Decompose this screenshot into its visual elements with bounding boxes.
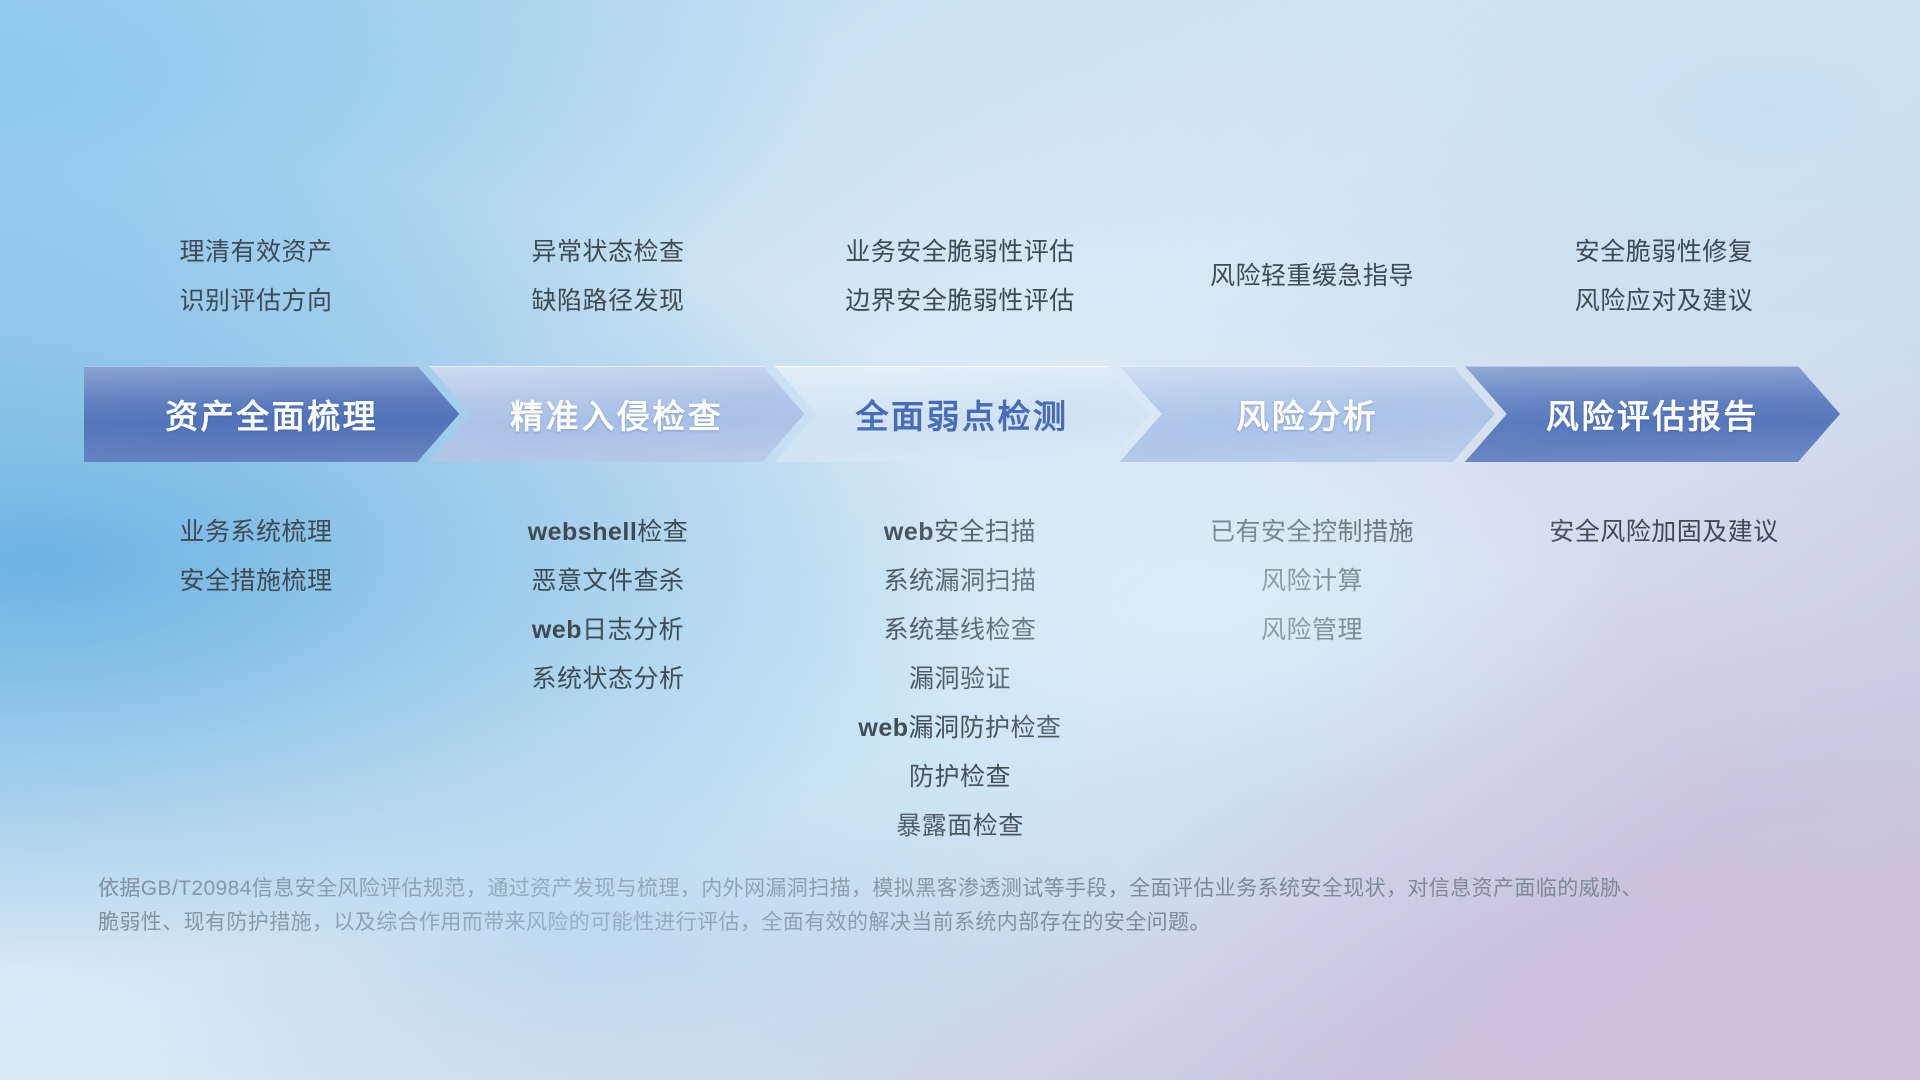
bottom-note-text: 安全风险加固及建议 — [1549, 518, 1779, 546]
bottom-note-text: 漏洞防护检查 — [909, 714, 1062, 742]
bottom-note-text: 安全措施梳理 — [179, 567, 332, 595]
bottom-note-text: 系统状态分析 — [531, 665, 684, 693]
bottom-note-text: 日志分析 — [582, 616, 684, 644]
bottom-note-text: 业务系统梳理 — [179, 518, 332, 546]
top-note-item: 识别评估方向 — [86, 277, 426, 326]
bottom-note-item: 业务系统梳理 — [86, 508, 426, 557]
process-step-3[interactable]: 全面弱点检测 — [774, 366, 1149, 462]
bottom-note-item: 恶意文件查杀 — [438, 557, 778, 606]
slide-canvas: 理清有效资产识别评估方向异常状态检查缺陷路径发现业务安全脆弱性评估边界安全脆弱性… — [0, 0, 1920, 1080]
top-note-item: 安全脆弱性修复 — [1494, 228, 1834, 277]
bottom-note-column-3: web安全扫描系统漏洞扫描系统基线检查漏洞验证web漏洞防护检查防护检查暴露面检… — [784, 508, 1136, 851]
top-note-column-5: 安全脆弱性修复风险应对及建议 — [1488, 228, 1840, 326]
bottom-note-text: 系统漏洞扫描 — [883, 567, 1036, 595]
bottom-note-text: 漏洞验证 — [909, 665, 1011, 693]
top-notes-row: 理清有效资产识别评估方向异常状态检查缺陷路径发现业务安全脆弱性评估边界安全脆弱性… — [80, 228, 1840, 326]
bottom-note-item: 风险管理 — [1142, 606, 1482, 655]
top-note-item: 风险轻重缓急指导 — [1142, 252, 1482, 301]
bottom-note-text: 防护检查 — [909, 763, 1011, 791]
process-step-2[interactable]: 精准入侵检查 — [429, 366, 804, 462]
bottom-note-term: web — [532, 616, 582, 644]
bottom-note-item: 安全风险加固及建议 — [1494, 508, 1834, 557]
bottom-note-text: 安全扫描 — [934, 518, 1036, 546]
process-step-label: 资产全面梳理 — [165, 390, 378, 438]
bottom-note-item: 系统漏洞扫描 — [790, 557, 1130, 606]
bottom-note-text: 已有安全控制措施 — [1210, 518, 1414, 546]
bottom-note-item: web安全扫描 — [790, 508, 1130, 557]
bottom-note-item: 漏洞验证 — [790, 655, 1130, 704]
bottom-note-text: 风险计算 — [1261, 567, 1363, 595]
top-note-item: 业务安全脆弱性评估 — [790, 228, 1130, 277]
top-note-item: 异常状态检查 — [438, 228, 778, 277]
process-step-label: 精准入侵检查 — [510, 390, 723, 438]
bottom-note-text: 系统基线检查 — [883, 616, 1036, 644]
process-step-5[interactable]: 风险评估报告 — [1465, 366, 1840, 462]
bottom-note-item: 已有安全控制措施 — [1142, 508, 1482, 557]
top-note-column-3: 业务安全脆弱性评估边界安全脆弱性评估 — [784, 228, 1136, 326]
top-note-column-2: 异常状态检查缺陷路径发现 — [432, 228, 784, 326]
bottom-notes-row: 业务系统梳理安全措施梳理webshell检查恶意文件查杀web日志分析系统状态分… — [80, 508, 1840, 851]
top-note-item: 边界安全脆弱性评估 — [790, 277, 1130, 326]
footer-description: 依据GB/T20984信息安全风险评估规范，通过资产发现与梳理，内外网漏洞扫描，… — [98, 872, 1658, 940]
bottom-note-item: 防护检查 — [790, 753, 1130, 802]
bottom-note-text: 检查 — [637, 518, 688, 546]
bottom-note-column-4: 已有安全控制措施风险计算风险管理 — [1136, 508, 1488, 851]
top-note-item: 风险应对及建议 — [1494, 277, 1834, 326]
bottom-note-text: 恶意文件查杀 — [531, 567, 684, 595]
bottom-note-column-1: 业务系统梳理安全措施梳理 — [80, 508, 432, 851]
bottom-note-text: 暴露面检查 — [896, 812, 1024, 840]
bottom-note-term: web — [884, 518, 934, 546]
bottom-note-term: webshell — [528, 518, 638, 546]
bottom-note-item: 安全措施梳理 — [86, 557, 426, 606]
bottom-note-item: 风险计算 — [1142, 557, 1482, 606]
bottom-note-item: web日志分析 — [438, 606, 778, 655]
bottom-note-item: webshell检查 — [438, 508, 778, 557]
bottom-note-item: 系统状态分析 — [438, 655, 778, 704]
top-note-column-4: 风险轻重缓急指导 — [1136, 228, 1488, 326]
process-step-label: 全面弱点检测 — [856, 390, 1069, 438]
process-arrow-banner: 资产全面梳理精准入侵检查全面弱点检测风险分析风险评估报告 — [84, 366, 1840, 462]
process-step-label: 风险评估报告 — [1546, 390, 1759, 438]
bottom-note-term: web — [858, 714, 908, 742]
top-note-item: 缺陷路径发现 — [438, 277, 778, 326]
bottom-note-text: 风险管理 — [1261, 616, 1363, 644]
bottom-note-column-5: 安全风险加固及建议 — [1488, 508, 1840, 851]
process-step-label: 风险分析 — [1236, 390, 1378, 438]
top-note-item: 理清有效资产 — [86, 228, 426, 277]
process-step-4[interactable]: 风险分析 — [1120, 366, 1495, 462]
bottom-note-column-2: webshell检查恶意文件查杀web日志分析系统状态分析 — [432, 508, 784, 851]
process-step-1[interactable]: 资产全面梳理 — [84, 366, 459, 462]
top-note-column-1: 理清有效资产识别评估方向 — [80, 228, 432, 326]
bottom-note-item: web漏洞防护检查 — [790, 704, 1130, 753]
bottom-note-item: 系统基线检查 — [790, 606, 1130, 655]
bottom-note-item: 暴露面检查 — [790, 802, 1130, 851]
